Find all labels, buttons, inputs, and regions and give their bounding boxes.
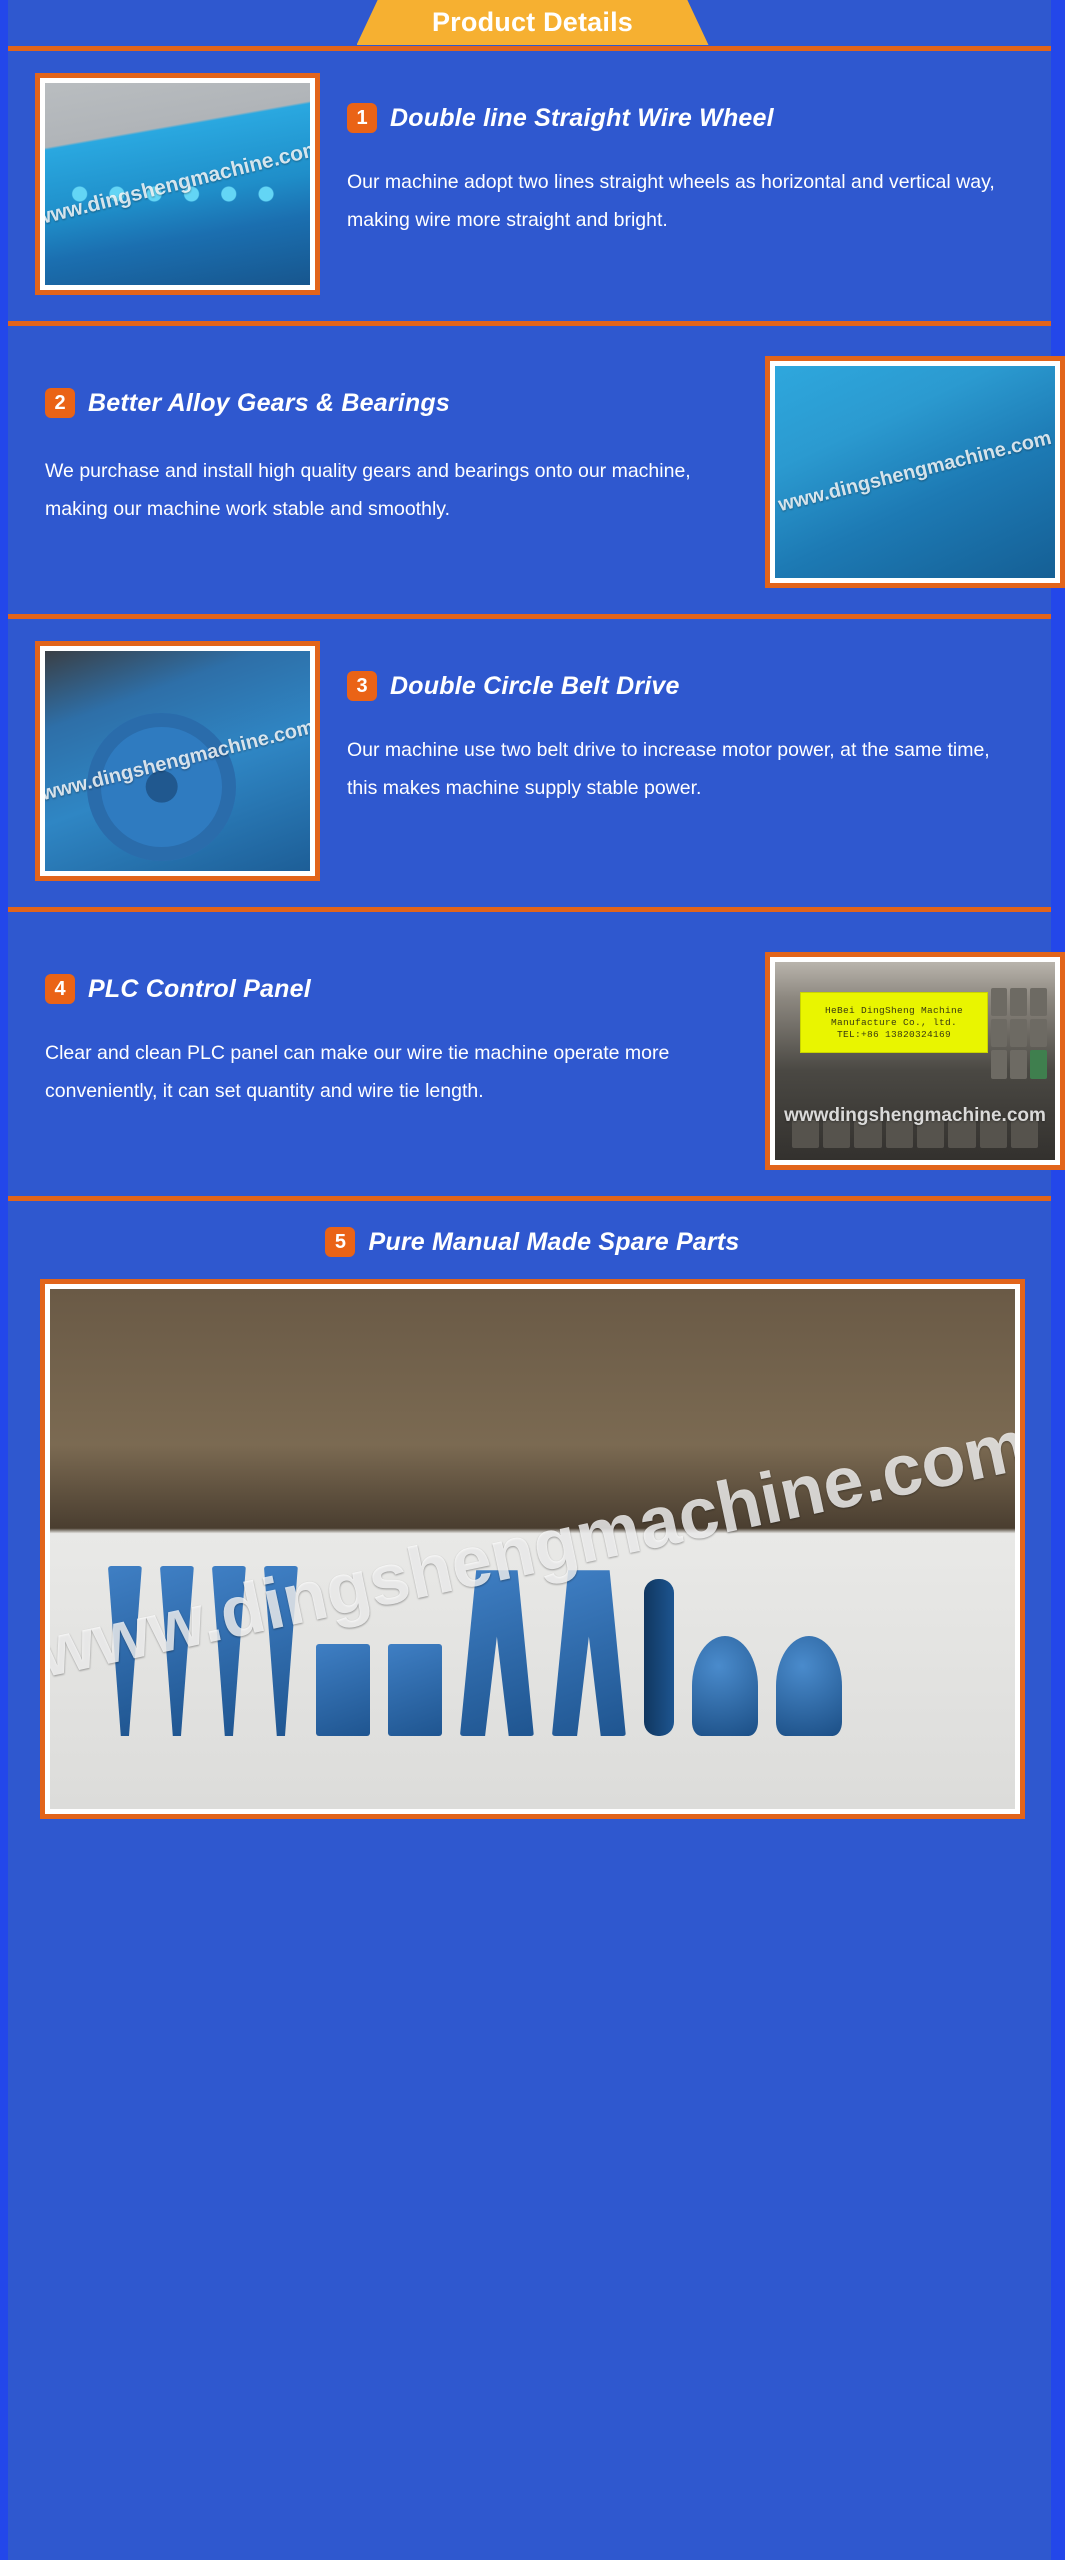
plc-screen-line-1: HeBei DingSheng Machine <box>825 1005 963 1016</box>
page-title: Product Details <box>432 7 633 38</box>
feature-3-image-frame: www.dingshengmachine.com <box>35 641 320 881</box>
plc-function-key <box>823 1120 850 1148</box>
plc-function-key <box>792 1120 819 1148</box>
feature-5-photo: www.dingshengmachine.com <box>50 1289 1015 1809</box>
feature-section-1: www.dingshengmachine.com 1 Double line S… <box>0 51 1065 321</box>
spare-part-block <box>316 1644 370 1736</box>
watermark-text: www.dingshengmachine.com <box>776 427 1054 517</box>
plc-enter-key <box>1030 1050 1047 1078</box>
feature-5-heading: 5 Pure Manual Made Spare Parts <box>0 1227 1065 1257</box>
belt-pulley-graphic <box>87 713 235 861</box>
plc-key <box>1030 988 1047 1016</box>
spare-part-wedge <box>108 1566 142 1736</box>
plc-key <box>991 988 1008 1016</box>
feature-2-body: We purchase and install high quality gea… <box>45 452 731 528</box>
feature-section-4: 4 PLC Control Panel Clear and clean PLC … <box>0 912 1065 1196</box>
plc-function-key <box>1011 1120 1038 1148</box>
feature-5-title: Pure Manual Made Spare Parts <box>368 1228 739 1257</box>
feature-1-text-column: 1 Double line Straight Wire Wheel Our ma… <box>347 73 1065 239</box>
plc-key <box>1010 1050 1027 1078</box>
feature-4-body: Clear and clean PLC panel can make our w… <box>45 1034 735 1110</box>
feature-2-image-frame: www.dingshengmachine.com <box>765 356 1065 588</box>
feature-4-photo: HeBei DingSheng Machine Manufacture Co.,… <box>775 962 1055 1160</box>
feature-number-badge: 2 <box>45 388 75 418</box>
feature-4-heading: 4 PLC Control Panel <box>45 974 735 1004</box>
feature-section-3: www.dingshengmachine.com 3 Double Circle… <box>0 619 1065 907</box>
feature-1-body: Our machine adopt two lines straight whe… <box>347 163 1010 239</box>
plc-keypad <box>991 988 1047 1079</box>
feature-4-image-frame: HeBei DingSheng Machine Manufacture Co.,… <box>765 952 1065 1170</box>
plc-display-screen: HeBei DingSheng Machine Manufacture Co.,… <box>800 992 988 1053</box>
spare-part-block <box>388 1644 442 1736</box>
spare-part-wedge <box>160 1566 194 1736</box>
plc-function-key-row <box>792 1120 1038 1148</box>
plc-function-key <box>886 1120 913 1148</box>
feature-3-heading: 3 Double Circle Belt Drive <box>347 671 1015 701</box>
feature-3-photo: www.dingshengmachine.com <box>45 651 310 871</box>
spare-part-wedge <box>212 1566 246 1736</box>
spare-part-cone <box>692 1636 758 1736</box>
spare-part-wedge <box>264 1566 298 1736</box>
feature-number-badge: 5 <box>325 1227 355 1257</box>
spare-parts-graphic <box>108 1518 957 1736</box>
spare-part-cone <box>776 1636 842 1736</box>
feature-3-title: Double Circle Belt Drive <box>390 672 680 701</box>
feature-section-2: 2 Better Alloy Gears & Bearings We purch… <box>0 326 1065 614</box>
plc-screen-line-2: Manufacture Co., ltd. <box>831 1017 957 1028</box>
feature-2-text-column: 2 Better Alloy Gears & Bearings We purch… <box>45 348 751 528</box>
feature-3-body: Our machine use two belt drive to increa… <box>347 731 1015 807</box>
feature-1-image-frame: www.dingshengmachine.com <box>35 73 320 295</box>
plc-function-key <box>948 1120 975 1148</box>
straight-wire-wheel-row-graphic <box>61 168 294 221</box>
feature-2-photo: www.dingshengmachine.com <box>775 366 1055 578</box>
feature-1-photo: www.dingshengmachine.com <box>45 83 310 285</box>
plc-function-key <box>917 1120 944 1148</box>
plc-screen-line-3: TEL:+86 13820324169 <box>837 1029 951 1040</box>
feature-number-badge: 3 <box>347 671 377 701</box>
feature-2-heading: 2 Better Alloy Gears & Bearings <box>45 388 731 418</box>
feature-section-5: 5 Pure Manual Made Spare Parts <box>0 1201 1065 1819</box>
feature-4-title: PLC Control Panel <box>88 975 311 1004</box>
plc-key <box>1030 1019 1047 1047</box>
feature-1-heading: 1 Double line Straight Wire Wheel <box>347 103 1010 133</box>
feature-4-text-column: 4 PLC Control Panel Clear and clean PLC … <box>45 934 755 1110</box>
feature-number-badge: 4 <box>45 974 75 1004</box>
plc-key <box>991 1019 1008 1047</box>
page-header: Product Details <box>0 0 1065 46</box>
plc-function-key <box>980 1120 1007 1148</box>
spare-part-threaded-rod <box>644 1579 674 1736</box>
feature-3-text-column: 3 Double Circle Belt Drive Our machine u… <box>347 641 1065 807</box>
feature-1-title: Double line Straight Wire Wheel <box>390 104 774 133</box>
feature-number-badge: 1 <box>347 103 377 133</box>
plc-function-key <box>854 1120 881 1148</box>
spare-part-fork <box>552 1570 626 1736</box>
feature-5-image-frame: www.dingshengmachine.com <box>40 1279 1025 1819</box>
spare-part-fork <box>460 1570 534 1736</box>
plc-key <box>1010 988 1027 1016</box>
header-banner: Product Details <box>357 0 709 45</box>
plc-key <box>1010 1019 1027 1047</box>
feature-2-title: Better Alloy Gears & Bearings <box>88 389 450 418</box>
product-details-page: Product Details www.dingshengmachine.com… <box>0 0 1065 2560</box>
plc-key <box>991 1050 1008 1078</box>
